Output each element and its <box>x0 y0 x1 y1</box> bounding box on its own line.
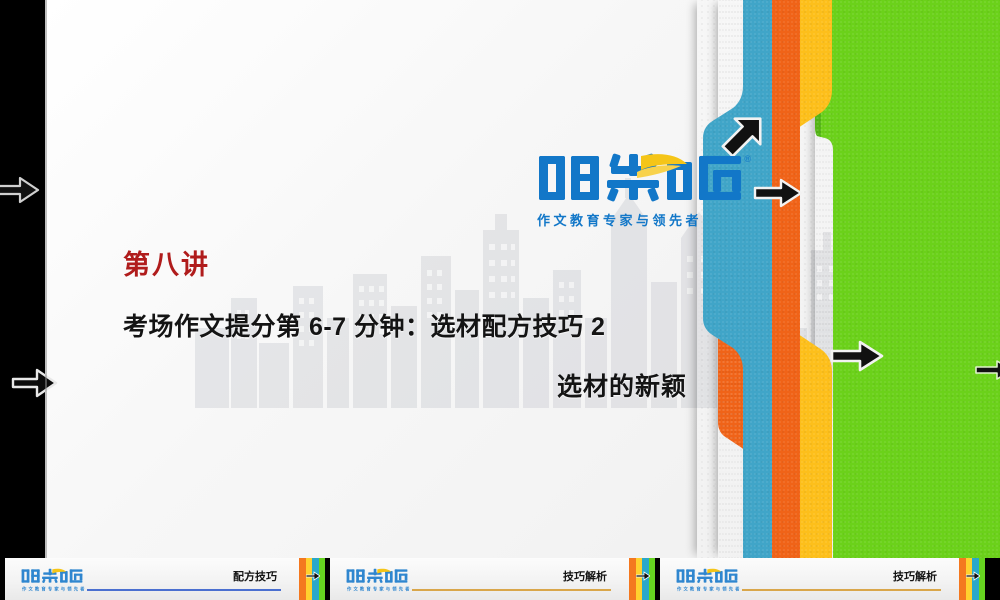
arrow-right-icon-3 <box>975 358 1000 382</box>
thumbnail-arrow-right-icon-3 <box>966 571 980 581</box>
arrow-right-icon-2 <box>830 340 884 372</box>
thumbnail-arrow-right-icon-2 <box>636 571 650 581</box>
thumbnail-title-1: 配方技巧 <box>233 568 277 584</box>
thumbnail-title-2: 技巧解析 <box>563 568 607 584</box>
thumbnail-tagline-1: 作文教育专家与领先者 <box>22 585 87 592</box>
rail-arrow-right-icon-2[interactable] <box>12 368 58 398</box>
thumbnail-rule-3 <box>742 589 941 591</box>
folder-tabs-group <box>670 0 1000 558</box>
thumbnail-logo-2 <box>346 565 408 587</box>
tab-green[interactable] <box>815 0 1000 558</box>
thumbnail-title-3: 技巧解析 <box>893 568 937 584</box>
left-rail <box>0 0 45 558</box>
canvas-left-edge <box>45 0 47 558</box>
slide-canvas: ® 作文教育专家与领先者 第八讲 考场作文提分第 6-7 分钟：选材配方技巧 2… <box>45 0 1000 558</box>
thumbnail-logo-3 <box>676 565 738 587</box>
lecture-number: 第八讲 <box>123 243 210 282</box>
filmstrip-thumbnail-2[interactable]: 作文教育专家与领先者 技巧解析 <box>325 558 655 600</box>
rail-arrow-right-icon-1[interactable] <box>0 176 40 204</box>
thumbnail-arrow-right-icon-1 <box>306 571 320 581</box>
paper-texture-green <box>815 0 1000 558</box>
arrow-right-icon-1 <box>753 178 803 208</box>
tab-blue[interactable] <box>697 0 772 558</box>
thumbnail-tagline-2: 作文教育专家与领先者 <box>347 585 412 592</box>
thumbnail-tagline-3: 作文教育专家与领先者 <box>677 585 742 592</box>
filmstrip-thumbnail-1[interactable]: 作文教育专家与领先者 配方技巧 <box>0 558 325 600</box>
slide-main-title: 考场作文提分第 6-7 分钟：选材配方技巧 2 <box>123 307 605 343</box>
presentation-viewer: ® 作文教育专家与领先者 第八讲 考场作文提分第 6-7 分钟：选材配方技巧 2… <box>0 0 1000 600</box>
thumbnail-rule-2 <box>412 589 611 591</box>
slide-filmstrip[interactable]: 作文教育专家与领先者 配方技巧 <box>0 558 1000 600</box>
slide-stage: ® 作文教育专家与领先者 第八讲 考场作文提分第 6-7 分钟：选材配方技巧 2… <box>0 0 1000 558</box>
thumbnail-logo-1 <box>21 565 83 587</box>
thumbnail-rule-1 <box>87 589 281 591</box>
brand-logo: ® 作文教育专家与领先者 <box>537 152 757 234</box>
filmstrip-thumbnail-3[interactable]: 作文教育专家与领先者 技巧解析 <box>655 558 985 600</box>
registered-trademark-icon: ® <box>744 154 751 164</box>
paper-texture-blue <box>697 0 772 558</box>
brand-tagline: 作文教育专家与领先者 <box>537 210 757 229</box>
slide-sub-title: 选材的新颖 <box>557 367 687 403</box>
brand-logo-mark: ® <box>537 152 747 204</box>
